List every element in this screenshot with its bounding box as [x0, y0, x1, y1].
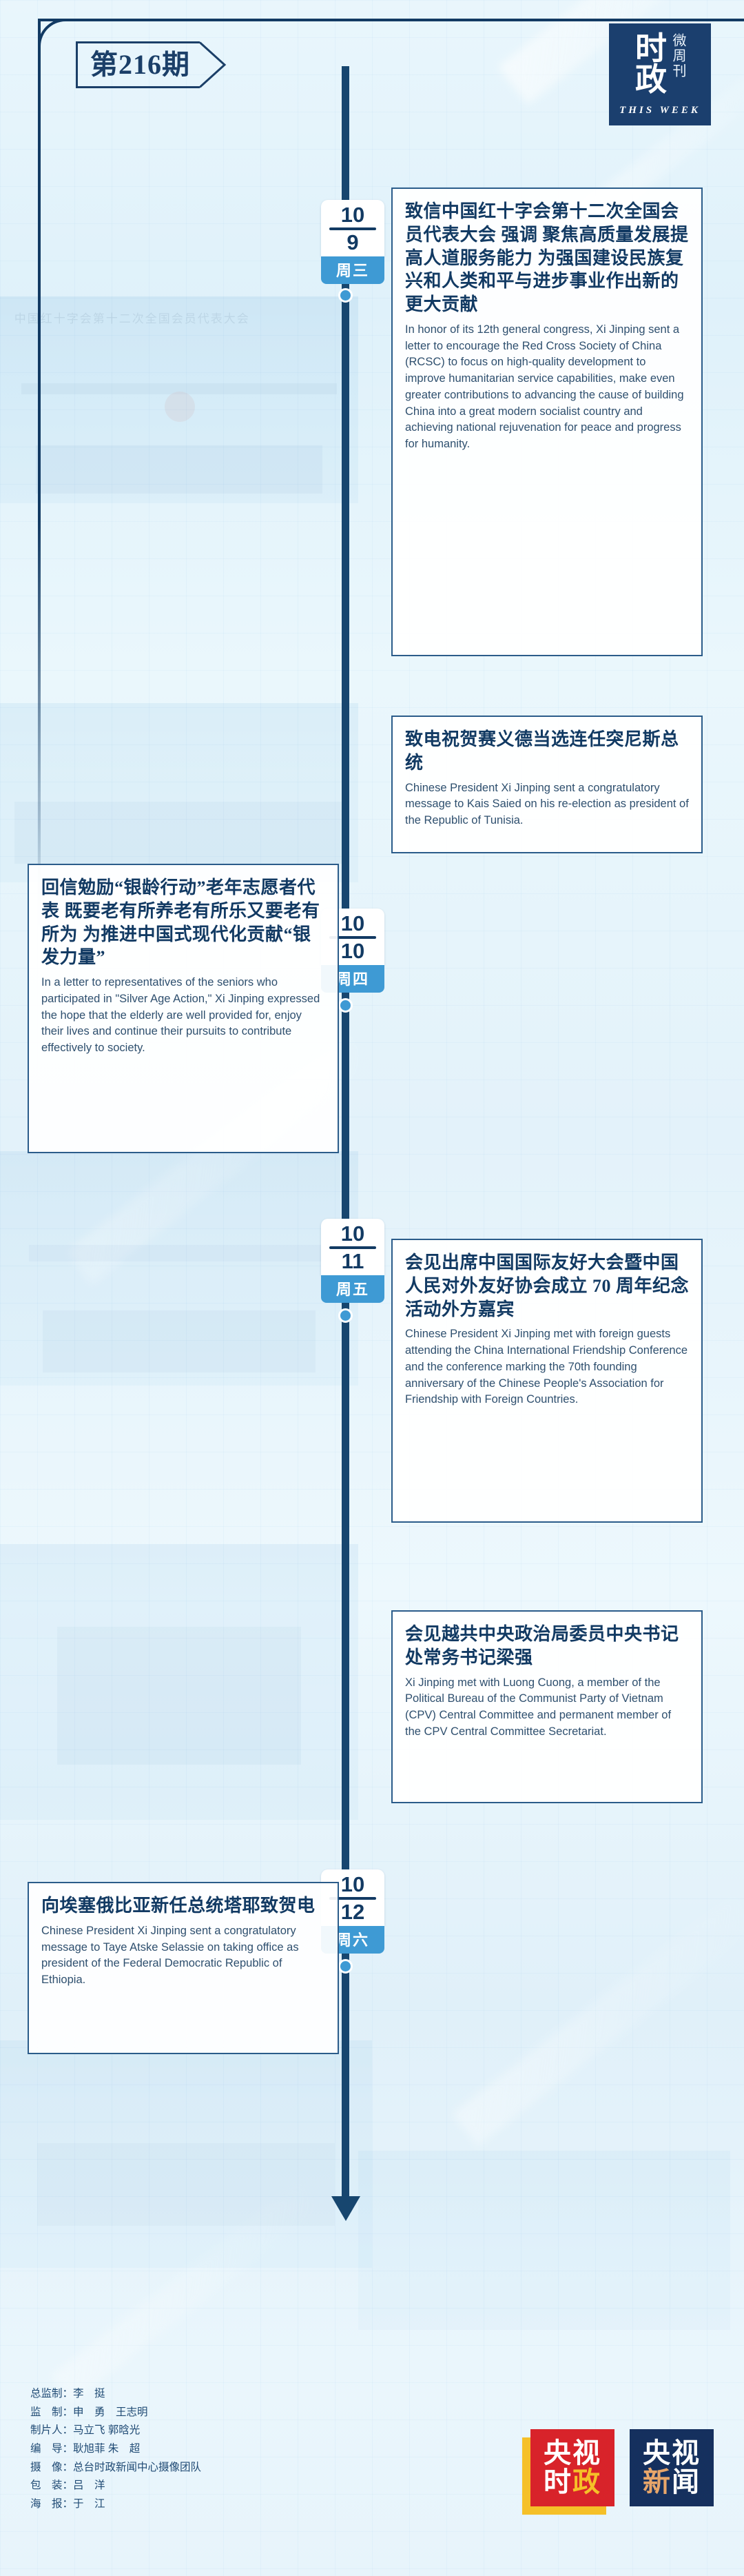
logo-body: 央视 新闻 — [630, 2429, 714, 2506]
timeline-arrow-icon — [331, 2196, 360, 2221]
logo-cn-stack: 时 政 — [635, 33, 666, 95]
footer-logos: 央视 时政 央视 新闻 — [530, 2429, 714, 2506]
news-card-vietnam[interactable]: 会见越共中央政治局委员中央书记处常务书记梁强 Xi Jinping met wi… — [391, 1610, 703, 1803]
logo-vertical-text: 微周刊 — [670, 33, 685, 99]
date-chip-top: 10 11 — [321, 1219, 384, 1275]
date-day: 11 — [321, 1250, 384, 1272]
frame-top-rule — [38, 19, 744, 21]
frame-left-rule — [38, 19, 41, 929]
news-card-body: Chinese President Xi Jinping met with fo… — [405, 1326, 689, 1408]
footer-credits: 总监制：李 挺 监 制：申 勇 王志明 制片人：马立飞 郭晗光 编 导：耿旭菲 … — [30, 2385, 201, 2514]
news-card-title: 会见越共中央政治局委员中央书记处常务书记梁强 — [405, 1623, 689, 1670]
timeline-dot — [338, 1308, 353, 1323]
credit-line: 编 导：耿旭菲 朱 超 — [30, 2440, 201, 2459]
logo-cctv-zhengshi[interactable]: 央视 时政 — [530, 2429, 614, 2506]
logo-line-2: 新闻 — [643, 2468, 701, 2497]
credit-line: 包 装：吕 洋 — [30, 2477, 201, 2495]
logo-char-b: 闻 — [672, 2466, 701, 2497]
light-streak — [453, 1893, 744, 2146]
news-card-body: Chinese President Xi Jinping sent a cong… — [41, 1923, 325, 1989]
logo-char-zheng: 政 — [635, 64, 666, 95]
news-card-body: Chinese President Xi Jinping sent a cong… — [405, 780, 689, 829]
news-card-body: In honor of its 12th general congress, X… — [405, 322, 689, 453]
logo-line-1: 央视 — [544, 2439, 601, 2468]
frame-corner — [38, 19, 70, 50]
background-photo-red-cross: 中国红十字会第十二次全国会员代表大会 — [0, 296, 358, 503]
logo-char-shi: 时 — [635, 33, 666, 64]
background-photo-watermark — [358, 2151, 730, 2330]
date-day: 9 — [321, 232, 384, 254]
logo-char-a: 新 — [643, 2466, 672, 2497]
date-chip-top: 10 9 — [321, 200, 384, 256]
news-card-title: 致信中国红十字会第十二次全国会员代表大会 强调 聚焦高质量发展提高人道服务能力 … — [405, 200, 689, 316]
date-chip-10-11[interactable]: 10 11 周五 — [321, 1219, 384, 1303]
background-photo-ceremony — [0, 2040, 372, 2268]
ghost-caption: 中国红十字会第十二次全国会员代表大会 — [14, 309, 250, 326]
logo-char-b: 政 — [572, 2466, 601, 2497]
credit-line: 摄 像：总台时政新闻中心摄像团队 — [30, 2459, 201, 2477]
light-streak — [50, 2181, 321, 2404]
news-card-friendship-conference[interactable]: 会见出席中国国际友好大会暨中国人民对外友好协会成立 70 周年纪念活动外方嘉宾 … — [391, 1239, 703, 1523]
news-card-title: 致电祝贺赛义德当选连任突尼斯总统 — [405, 728, 689, 775]
background-photo-meeting — [0, 1544, 358, 1820]
news-card-body: In a letter to representatives of the se… — [41, 975, 325, 1057]
news-card-tunisia[interactable]: 致电祝贺赛义德当选连任突尼斯总统 Chinese President Xi Ji… — [391, 716, 703, 853]
news-card-silver-age[interactable]: 回信勉励“银龄行动”老年志愿者代表 既要老有所养老有所乐又要老有所为 为推进中国… — [28, 864, 339, 1153]
news-card-ethiopia[interactable]: 向埃塞俄比亚新任总统塔耶致贺电 Chinese President Xi Jin… — [28, 1882, 339, 2054]
logo-line-2: 时政 — [544, 2468, 601, 2497]
credit-line: 海 报：于 江 — [30, 2495, 201, 2514]
news-card-body: Xi Jinping met with Luong Cuong, a membe… — [405, 1675, 689, 1741]
issue-arrow-icon — [200, 41, 229, 88]
news-card-title: 向埃塞俄比亚新任总统塔耶致贺电 — [41, 1894, 325, 1918]
timeline-dot — [338, 1959, 353, 1974]
date-month: 10 — [321, 204, 384, 226]
logo-characters: 时 政 微周刊 — [635, 33, 685, 99]
date-chip-10-9[interactable]: 10 9 周三 — [321, 200, 384, 284]
background-photo-hall — [0, 1151, 358, 1386]
logo-line-1: 央视 — [643, 2439, 701, 2468]
news-card-red-cross[interactable]: 致信中国红十字会第十二次全国会员代表大会 强调 聚焦高质量发展提高人道服务能力 … — [391, 187, 703, 656]
credit-line: 总监制：李 挺 — [30, 2385, 201, 2404]
brand-logo-this-week: 时 政 微周刊 THIS WEEK — [609, 23, 711, 125]
background-photo-crowd — [0, 703, 358, 882]
credit-line: 监 制：申 勇 王志明 — [30, 2404, 201, 2422]
news-card-title: 回信勉励“银龄行动”老年志愿者代表 既要老有所养老有所乐又要老有所为 为推进中国… — [41, 876, 325, 969]
news-card-title: 会见出席中国国际友好大会暨中国人民对外友好协会成立 70 周年纪念活动外方嘉宾 — [405, 1251, 689, 1321]
issue-label: 第216期 — [90, 51, 190, 79]
issue-badge-box: 第216期 — [76, 41, 200, 88]
date-month: 10 — [321, 1223, 384, 1245]
date-weekday: 周五 — [321, 1275, 384, 1303]
issue-badge: 第216期 — [76, 41, 229, 88]
logo-char-a: 时 — [544, 2466, 572, 2497]
date-weekday: 周三 — [321, 256, 384, 284]
credit-line: 制片人：马立飞 郭晗光 — [30, 2422, 201, 2440]
poster-root: 中国红十字会第十二次全国会员代表大会 第216期 时 — [0, 0, 744, 2576]
logo-english-text: THIS WEEK — [619, 105, 701, 116]
timeline-dot — [338, 288, 353, 303]
logo-cctv-xinwen[interactable]: 央视 新闻 — [630, 2429, 714, 2506]
timeline-dot — [338, 998, 353, 1013]
logo-body: 央视 时政 — [530, 2429, 614, 2506]
